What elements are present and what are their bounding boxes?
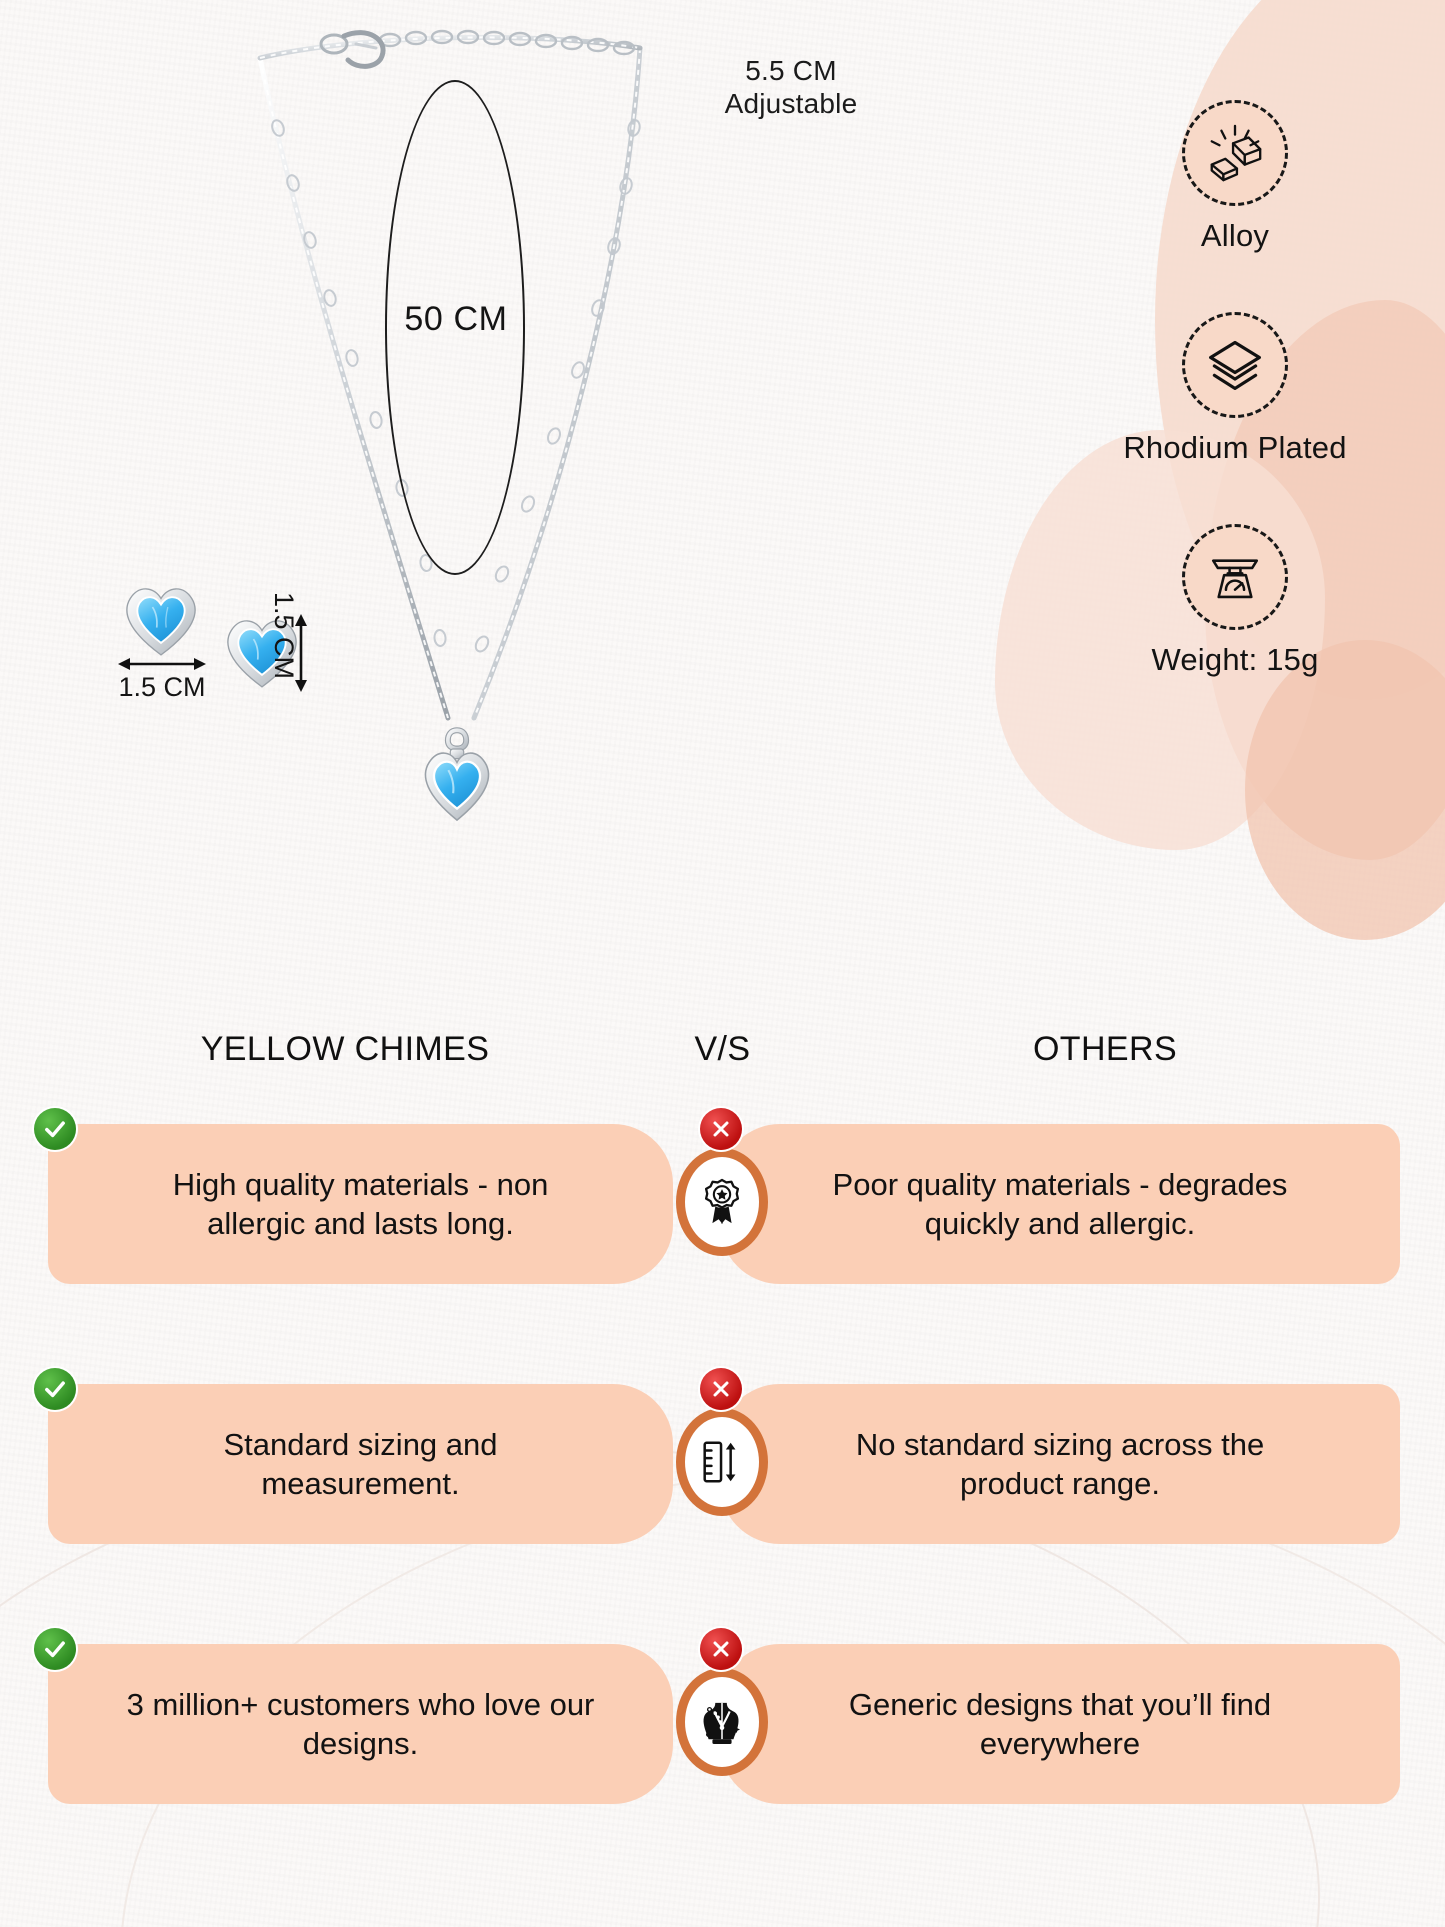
brand-benefit-card: Standard sizing and measurement.: [48, 1384, 673, 1544]
cross-badge-icon: [700, 1108, 742, 1150]
layers-icon: [1182, 312, 1288, 418]
comparison-row: High quality materials - non allergic an…: [0, 1102, 1445, 1302]
earring-height-label: 1.5 CM: [268, 592, 299, 679]
comparison-row: Standard sizing and measurement. No stan…: [0, 1362, 1445, 1562]
infographic: 50 CM 5.5 CM Adjustable: [0, 0, 1445, 1927]
gold-bars-icon: [1182, 100, 1288, 206]
feature-label: Weight: 15g: [1025, 642, 1445, 678]
necklace-bust-icon: [676, 1668, 768, 1776]
check-badge-icon: [34, 1108, 76, 1150]
check-badge-icon: [34, 1628, 76, 1670]
brand-benefit-card: High quality materials - non allergic an…: [48, 1124, 673, 1284]
feature-label: Alloy: [1025, 218, 1445, 254]
earring-width-label: 1.5 CM: [96, 672, 228, 703]
others-drawback-text: Generic designs that you’ll find everywh…: [800, 1685, 1320, 1763]
cross-badge-icon: [700, 1628, 742, 1670]
others-drawback-card: Poor quality materials - degrades quickl…: [720, 1124, 1400, 1284]
others-drawback-card: No standard sizing across the product ra…: [720, 1384, 1400, 1544]
header-others: OTHERS: [760, 1030, 1445, 1069]
others-drawback-text: Poor quality materials - degrades quickl…: [800, 1165, 1320, 1243]
feature-rhodium-plated: Rhodium Plated: [1025, 312, 1445, 466]
comparison-section: YELLOW CHIMES V/S OTHERS High quality ma…: [0, 1030, 1445, 1882]
brand-benefit-text: Standard sizing and measurement.: [126, 1425, 596, 1503]
heart-pendant: [418, 724, 496, 824]
others-drawback-card: Generic designs that you’ll find everywh…: [720, 1644, 1400, 1804]
weight-scale-icon: [1182, 524, 1288, 630]
header-brand: YELLOW CHIMES: [0, 1030, 690, 1069]
check-badge-icon: [34, 1368, 76, 1410]
feature-alloy: Alloy: [1025, 100, 1445, 254]
feature-weight: Weight: 15g: [1025, 524, 1445, 678]
ruler-icon: [676, 1408, 768, 1516]
others-drawback-text: No standard sizing across the product ra…: [800, 1425, 1320, 1503]
award-badge-icon: [676, 1148, 768, 1256]
comparison-row: 3 million+ customers who love our design…: [0, 1622, 1445, 1822]
feature-label: Rhodium Plated: [1025, 430, 1445, 466]
adjustable-length-label: 5.5 CM Adjustable: [676, 54, 906, 120]
brand-benefit-text: 3 million+ customers who love our design…: [126, 1685, 596, 1763]
brand-benefit-card: 3 million+ customers who love our design…: [48, 1644, 673, 1804]
chain-length-label: 50 CM: [368, 300, 544, 339]
brand-benefit-text: High quality materials - non allergic an…: [126, 1165, 596, 1243]
earring-left: [118, 578, 204, 660]
comparison-headers: YELLOW CHIMES V/S OTHERS: [0, 1030, 1445, 1102]
cross-badge-icon: [700, 1368, 742, 1410]
feature-list: Alloy Rhodium Plated: [1025, 100, 1445, 700]
